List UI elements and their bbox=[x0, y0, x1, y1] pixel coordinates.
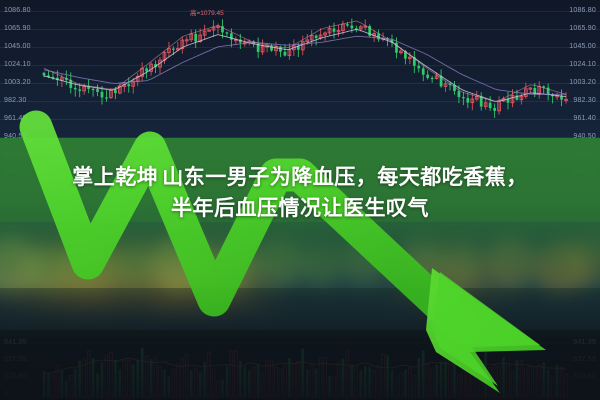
headline-line-2: 半年后血压情况让医生叹气 bbox=[0, 193, 600, 224]
headline-line-1: 掌上乾坤山东一男子为降血压，每天都吃香蕉， bbox=[0, 162, 600, 193]
brand-name: 掌上乾坤 bbox=[72, 166, 158, 189]
headline-text: 掌上乾坤山东一男子为降血压，每天都吃香蕉， 半年后血压情况让医生叹气 bbox=[0, 162, 600, 224]
screenshot-canvas: 1086.80 1065.90 1045.00 1024.10 1003.20 … bbox=[0, 0, 600, 400]
headline-line-1-rest: 山东一男子为降血压，每天都吃香蕉， bbox=[162, 166, 528, 189]
